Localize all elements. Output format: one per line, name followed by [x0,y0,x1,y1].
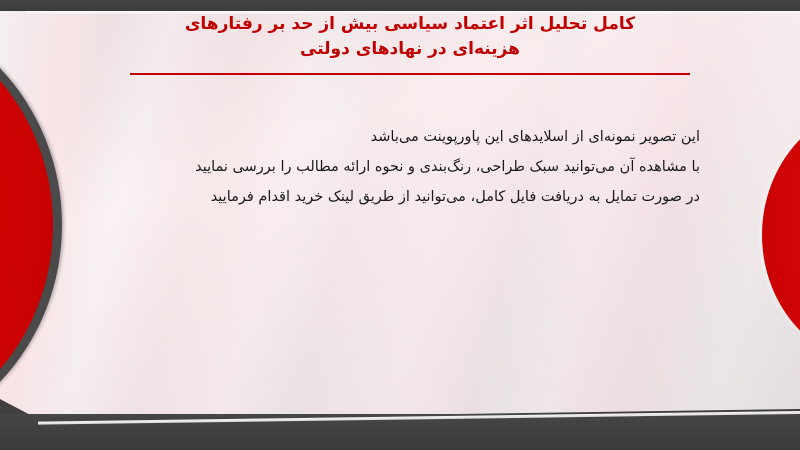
body-line-1: این تصویر نمونه‌ای از اسلایدهای این پاور… [80,122,700,152]
body-line-2: با مشاهده آن می‌توانید سبک طراحی، رنگ‌بن… [80,152,700,182]
slide-title-line-1: کامل تحلیل اثر اعتماد سیاسی بیش از حد بر… [120,12,700,37]
dark-band-top [0,0,800,11]
body-line-3: در صورت تمایل به دریافت فایل کامل، می‌تو… [80,182,700,212]
slide-title: کامل تحلیل اثر اعتماد سیاسی بیش از حد بر… [120,12,700,62]
slide-canvas: کامل تحلیل اثر اعتماد سیاسی بیش از حد بر… [0,0,800,450]
red-horizontal-rule [130,73,690,75]
slide-title-line-2: هزینه‌ای در نهادهای دولتی [120,37,700,62]
slide-body-text: این تصویر نمونه‌ای از اسلایدهای این پاور… [80,122,700,212]
